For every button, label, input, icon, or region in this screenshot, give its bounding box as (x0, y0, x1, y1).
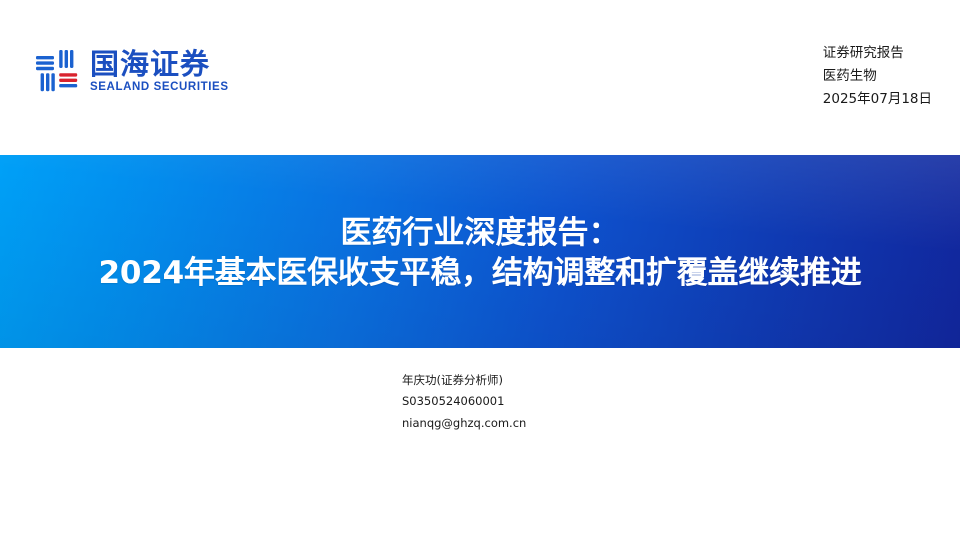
brand-logo: 国海证券 SEALAND SECURITIES (34, 48, 229, 94)
analyst-name-role: 年庆功(证券分析师) (402, 370, 526, 391)
report-type-label: 证券研究报告 (823, 42, 932, 65)
page-header: 国海证券 SEALAND SECURITIES 证券研究报告 医药生物 2025… (0, 0, 960, 155)
title-banner: 医药行业深度报告： 2024年基本医保收支平稳，结构调整和扩覆盖继续推进 (0, 155, 960, 348)
analyst-email[interactable]: nianqg@ghzq.com.cn (402, 413, 526, 434)
industry-label: 医药生物 (823, 65, 932, 88)
analyst-info-block: 年庆功(证券分析师) S0350524060001 nianqg@ghzq.co… (402, 370, 526, 434)
brand-name-cn: 国海证券 (90, 49, 229, 79)
report-title-line-1: 医药行业深度报告： (341, 214, 620, 254)
sealand-pinwheel-logo-mark (34, 48, 80, 94)
report-date-label: 2025年07月18日 (823, 88, 932, 111)
brand-name-en: SEALAND SECURITIES (90, 82, 229, 94)
brand-wordmark: 国海证券 SEALAND SECURITIES (90, 49, 229, 94)
analyst-license-number: S0350524060001 (402, 391, 526, 412)
header-meta-block: 证券研究报告 医药生物 2025年07月18日 (823, 42, 932, 112)
report-title-line-2: 2024年基本医保收支平稳，结构调整和扩覆盖继续推进 (98, 254, 861, 294)
footer-empty-area (0, 440, 960, 540)
title-banner-content: 医药行业深度报告： 2024年基本医保收支平稳，结构调整和扩覆盖继续推进 (0, 155, 960, 348)
